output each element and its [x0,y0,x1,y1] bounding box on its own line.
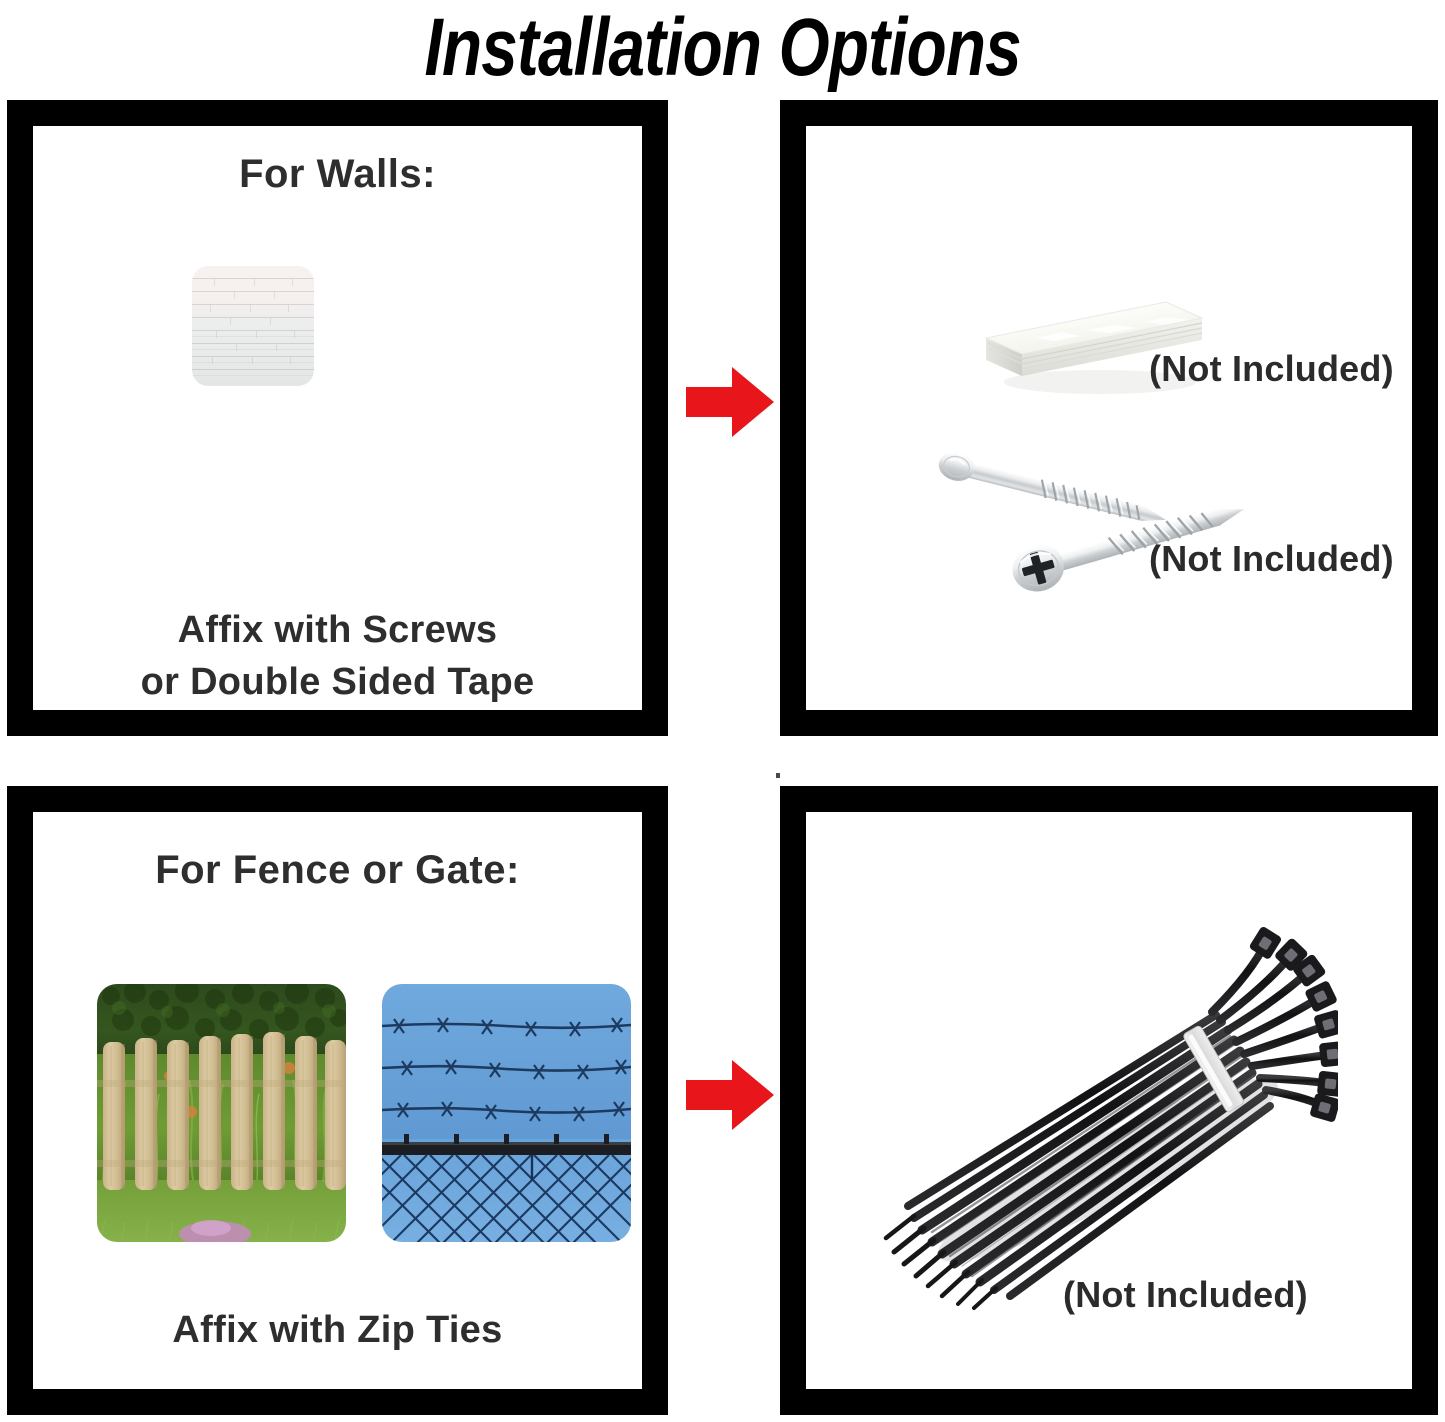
panel-wall-hardware: (Not Included) [780,100,1438,736]
for-walls-caption-line-2: or Double Sided Tape [33,656,642,708]
white-brick-wall-swatch-icon [192,266,314,386]
page-title: Installation Options [424,7,1020,89]
for-walls-caption-line-1: Affix with Screws [33,604,642,656]
page-title-bar: Installation Options [0,0,1445,96]
wood-screws-icon [926,444,1276,614]
zipties-not-included-label: (Not Included) [1063,1274,1308,1316]
red-right-arrow-icon [684,361,776,443]
tape-not-included-label: (Not Included) [1149,348,1394,390]
image-artifact-speck [776,773,780,778]
for-fence-caption-line-1: Affix with Zip Ties [33,1304,642,1356]
chain-link-barbed-wire-fence-photo [382,984,631,1242]
panel-zip-ties: (Not Included) [780,786,1438,1415]
for-fence-caption: Affix with Zip Ties [33,1304,642,1356]
screws-not-included-label: (Not Included) [1149,538,1394,580]
for-walls-caption: Affix with Screws or Double Sided Tape [33,604,642,708]
wooden-picket-fence-photo [97,984,346,1242]
panel-for-walls: For Walls: [7,100,668,736]
for-walls-heading: For Walls: [33,152,642,197]
black-zip-tie-bundle-icon [868,912,1338,1312]
panel-for-fence-or-gate: For Fence or Gate: [7,786,668,1415]
for-fence-heading: For Fence or Gate: [33,848,642,893]
red-right-arrow-icon [684,1054,776,1136]
